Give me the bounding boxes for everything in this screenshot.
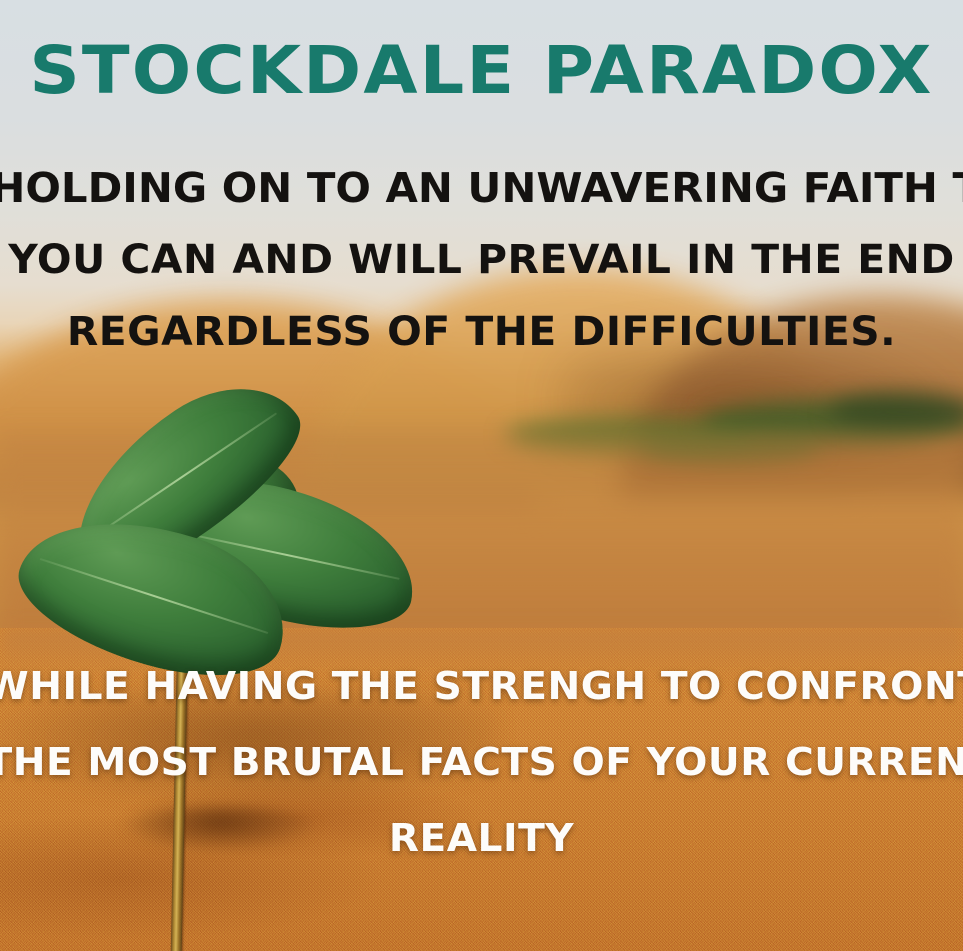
leaf-vein xyxy=(40,558,268,634)
upper-quote: HOLDING ON TO AN UNWAVERING FAITH THAT Y… xyxy=(0,152,963,368)
upper-quote-line-3: REGARDLESS OF THE DIFFICULTIES. xyxy=(0,296,963,368)
poster-canvas: STOCKDALE PARADOX HOLDING ON TO AN UNWAV… xyxy=(0,0,963,951)
poster-title: STOCKDALE PARADOX xyxy=(0,38,963,104)
lower-quote-line-1: WHILE HAVING THE STRENGH TO CONFRONT xyxy=(0,648,963,724)
upper-quote-line-2: YOU CAN AND WILL PREVAIL IN THE END xyxy=(0,224,963,296)
upper-quote-line-1: HOLDING ON TO AN UNWAVERING FAITH THAT xyxy=(0,152,963,224)
lower-quote-line-2: THE MOST BRUTAL FACTS OF YOUR CURRENT xyxy=(0,724,963,800)
lower-quote-line-3: REALITY xyxy=(0,800,963,876)
lower-quote: WHILE HAVING THE STRENGH TO CONFRONT THE… xyxy=(0,648,963,876)
